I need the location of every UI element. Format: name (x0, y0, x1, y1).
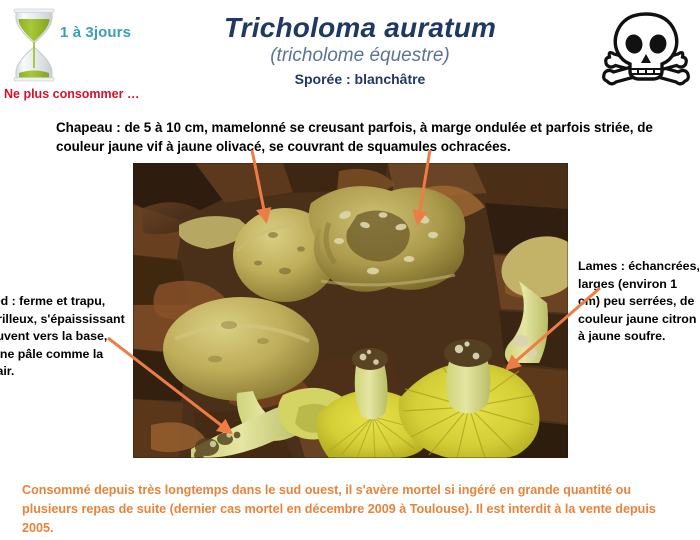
spore-print-label: Sporée : blanchâtre (150, 71, 570, 87)
title-block: Tricholoma auratum (tricholome équestre)… (150, 12, 570, 87)
common-name: (tricholome équestre) (150, 44, 570, 68)
stop-consumption-label: Ne plus consommer … (4, 87, 139, 101)
hourglass-icon (10, 6, 58, 84)
mushroom-photo (133, 163, 568, 458)
species-name: Tricholoma auratum (150, 12, 570, 43)
stem-description: Pied : ferme et trapu, fibrilleux, s'épa… (0, 293, 127, 381)
cap-description: Chapeau : de 5 à 10 cm, mamelonné se cre… (56, 118, 666, 157)
bottom-warning-text: Consommé depuis très longtemps dans le s… (22, 481, 680, 538)
gill-description: Lames : échancrées, larges (environ 1 cm… (578, 258, 700, 346)
skull-and-crossbones-icon (600, 8, 692, 96)
duration-badge: 1 à 3jours (60, 24, 131, 41)
